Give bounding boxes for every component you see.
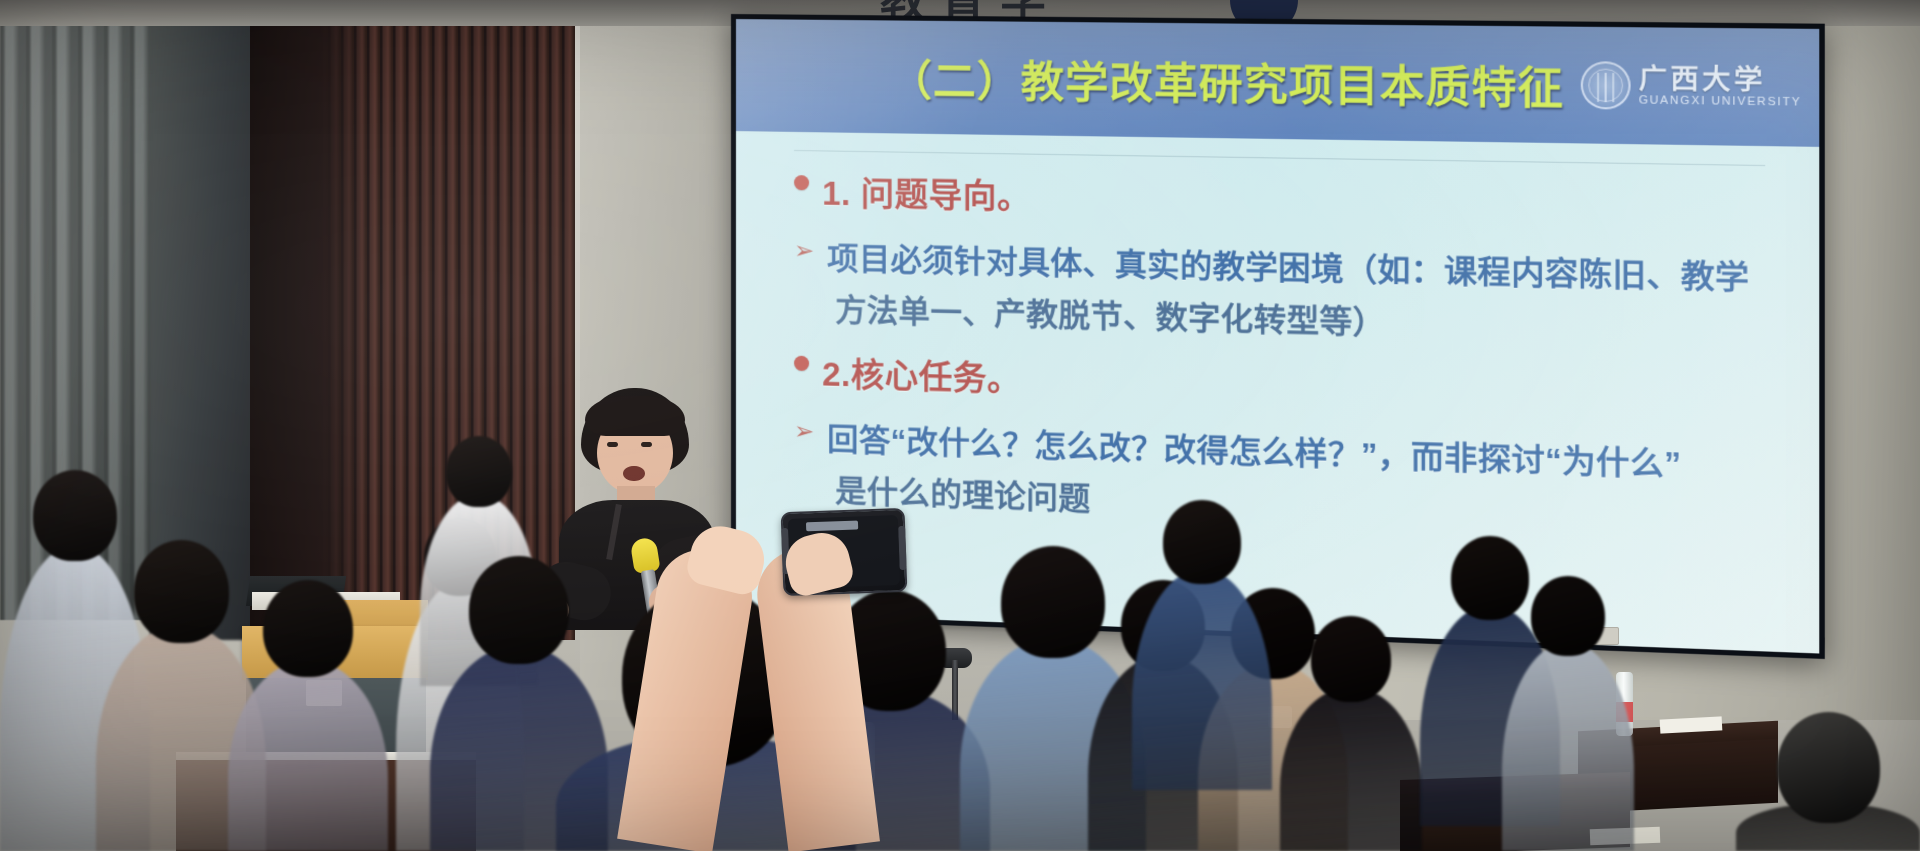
audience-shoulders xyxy=(1280,687,1422,851)
audience-shoulders xyxy=(228,660,388,851)
university-name-cn: 广西大学 xyxy=(1639,65,1802,94)
slide-line-4-text: 2.核心任务。 xyxy=(822,347,1021,401)
presenter-mouth xyxy=(623,466,645,481)
presenter-eye-right xyxy=(641,442,652,447)
audience-right-12 xyxy=(1280,616,1422,851)
audience-head xyxy=(263,580,353,677)
audience-head xyxy=(1531,576,1605,656)
bullet-arrow-icon: ➢ xyxy=(794,232,814,266)
bullet-dot-icon-2 xyxy=(794,347,809,375)
audience-head xyxy=(1311,616,1391,702)
slide-line-1: 1. 问题导向。 xyxy=(794,166,1768,232)
slide-title: （二）教学改革研究项目本质特征 xyxy=(889,46,1564,116)
audience-head xyxy=(446,436,512,507)
phone-status-bar xyxy=(806,520,858,531)
lecture-hall-scene: 教育学 （二）教学改革研究项目本质特征 广西大学 GUANGXI UNIVERS… xyxy=(0,0,1920,851)
wood-slat-shadow xyxy=(250,0,370,640)
audience-head xyxy=(1163,500,1241,584)
audience-left-3 xyxy=(228,580,388,851)
slide-line-3-text: 方法单一、产教脱节、数字化转型等） xyxy=(835,292,1385,340)
university-logo: 广西大学 GUANGXI UNIVERSITY xyxy=(1581,61,1801,112)
slide-line-1-text: 1. 问题导向。 xyxy=(822,166,1031,218)
university-logo-text: 广西大学 GUANGXI UNIVERSITY xyxy=(1639,65,1802,109)
slide-line-4: 2.核心任务。 xyxy=(794,347,1768,422)
bullet-arrow-icon-2: ➢ xyxy=(794,413,814,447)
audience-right-15 xyxy=(1502,576,1634,851)
audience-shoulders xyxy=(1502,642,1634,851)
audience-shoulders xyxy=(1132,569,1272,790)
audience-right-13 xyxy=(1132,500,1272,790)
microphone-windscreen-icon xyxy=(630,537,661,575)
audience-head xyxy=(469,556,569,664)
presenter-eye-left xyxy=(607,442,618,447)
audience-bottom-16 xyxy=(1736,712,1920,851)
slide-title-bar: （二）教学改革研究项目本质特征 广西大学 GUANGXI UNIVERSITY xyxy=(736,19,1819,147)
slide-divider xyxy=(794,150,1765,166)
university-name-en: GUANGXI UNIVERSITY xyxy=(1639,95,1802,109)
audience-head xyxy=(1777,712,1880,823)
audience-head xyxy=(134,540,229,643)
university-seal-icon xyxy=(1581,61,1631,110)
presenter-fringe xyxy=(585,396,685,436)
bullet-dot-icon xyxy=(794,166,809,194)
